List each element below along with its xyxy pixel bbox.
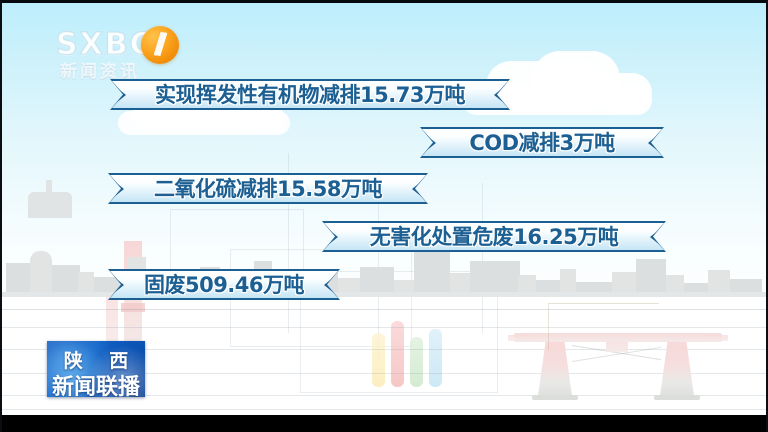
beaker-green	[410, 337, 423, 387]
crane-lineart	[548, 303, 659, 350]
stat-banner-voc: 实现挥发性有机物减排15.73万吨	[110, 79, 510, 110]
beaker-yellow	[372, 333, 385, 387]
smokestack-band-2	[121, 303, 145, 312]
stat-banner-so2: 二氧化硫减排15.58万吨	[108, 173, 428, 204]
letterbox-bottom	[0, 415, 768, 432]
letterbox-left	[0, 0, 2, 432]
program-badge-title: 新闻联播	[47, 369, 145, 397]
stat-banner-solid-waste-label: 固废509.46万吨	[108, 273, 340, 297]
program-badge: 陕 西 新闻联播	[47, 341, 145, 397]
stat-banner-solid-waste: 固废509.46万吨	[108, 269, 340, 300]
pagoda-spire	[46, 180, 52, 192]
beaker-blue	[429, 329, 442, 387]
stat-banner-cod-label: COD减排3万吨	[420, 131, 664, 155]
stat-banner-cod: COD减排3万吨	[420, 127, 664, 158]
stat-banner-so2-label: 二氧化硫减排15.58万吨	[108, 177, 428, 201]
network-logo-subtitle: 新闻资讯	[60, 57, 140, 82]
pagoda-silhouette	[28, 192, 72, 218]
beaker-red	[391, 321, 404, 387]
network-logo: SXBC 新闻资讯	[56, 21, 206, 73]
stat-banner-hazardous-waste: 无害化处置危废16.25万吨	[322, 221, 666, 252]
broadcast-screen: SXBC 新闻资讯 实现挥发性有机物减排15.73万吨 COD减排3万吨 二氧化…	[0, 0, 768, 432]
stat-banner-voc-label: 实现挥发性有机物减排15.73万吨	[110, 83, 510, 107]
letterbox-top	[0, 0, 768, 3]
sky-background: SXBC 新闻资讯 实现挥发性有机物减排15.73万吨 COD减排3万吨 二氧化…	[0, 3, 768, 415]
stat-banner-hazardous-waste-label: 无害化处置危废16.25万吨	[322, 225, 666, 249]
